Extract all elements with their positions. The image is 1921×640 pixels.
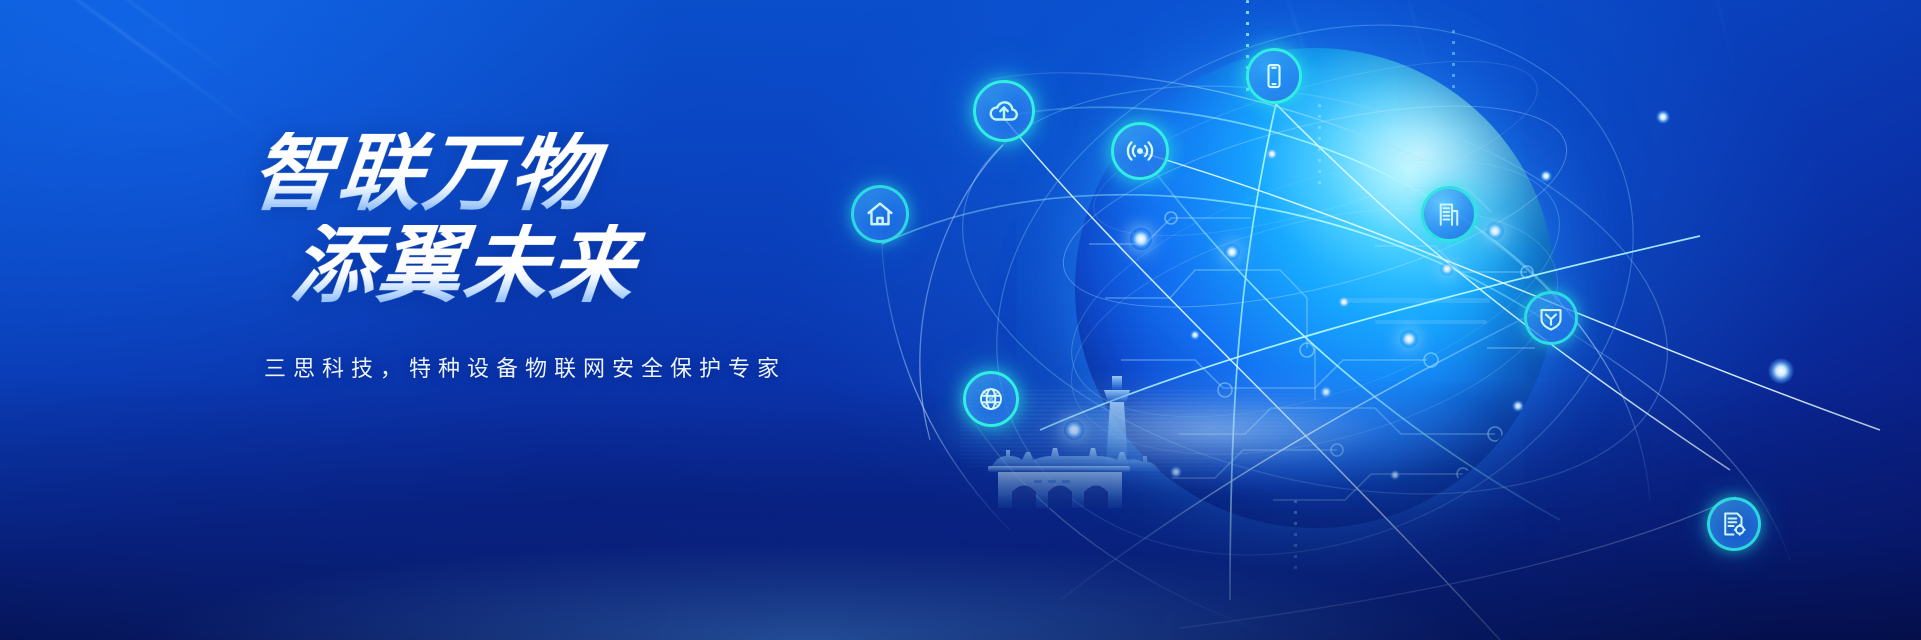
light-trail-blur (0, 340, 707, 640)
headline-line-2: 添翼未来 (288, 224, 1017, 306)
wifi-signal-icon[interactable] (1111, 122, 1169, 180)
building-icon[interactable] (1421, 186, 1477, 242)
headline-line-1: 智联万物 (248, 132, 1017, 214)
hero-banner: 智联万物 添翼未来 三思科技，特种设备物联网安全保护专家 (0, 0, 1921, 640)
light-streak (34, 0, 246, 86)
hero-subtitle: 三思科技，特种设备物联网安全保护专家 (264, 351, 1012, 383)
light-streak (1690, 0, 1740, 88)
horizon-glow (0, 380, 1921, 640)
globe-sphere (1075, 48, 1555, 528)
iot-globe (1075, 48, 1555, 528)
network-node-dot (1656, 110, 1670, 124)
document-settings-icon[interactable] (1707, 497, 1761, 551)
network-node-dot (1768, 358, 1794, 384)
light-streak (0, 0, 266, 138)
hero-copy: 智联万物 添翼未来 三思科技，特种设备物联网安全保护专家 (252, 132, 1012, 383)
smartphone-icon[interactable] (1246, 48, 1302, 104)
shield-icon[interactable] (1524, 291, 1578, 345)
